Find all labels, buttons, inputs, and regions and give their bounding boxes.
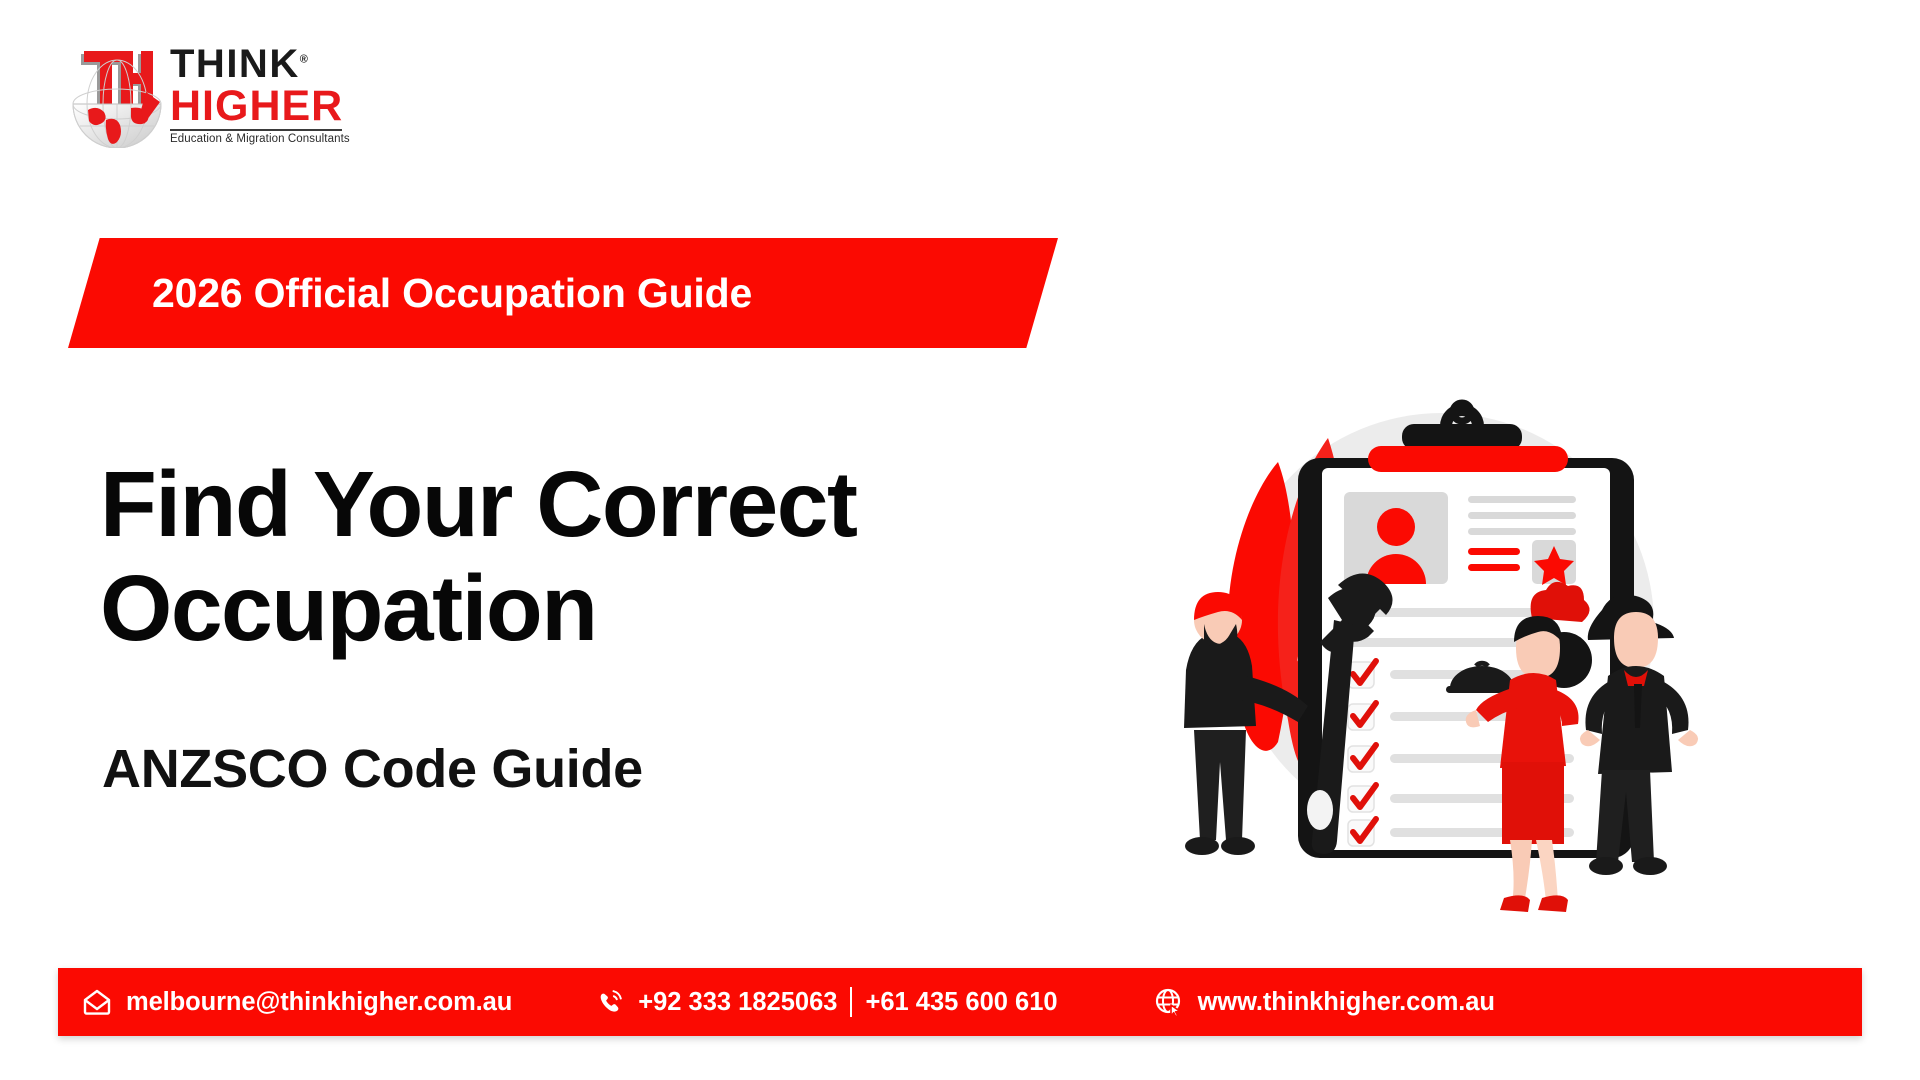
trademark-symbol: ® xyxy=(300,54,310,66)
brand-wordmark: THINK® HIGHER Education & Migration Cons… xyxy=(170,45,350,144)
occupation-clipboard-illustration xyxy=(1150,370,1710,930)
banner-label: 2026 Official Occupation Guide xyxy=(152,270,752,317)
brand-logo[interactable]: THINK® HIGHER Education & Migration Cons… xyxy=(68,40,368,150)
footer-website-text: www.thinkhigher.com.au xyxy=(1198,988,1495,1017)
footer-phone-primary: +92 333 1825063 xyxy=(638,988,837,1017)
red-clip-bar xyxy=(1368,446,1568,472)
clipboard-clip xyxy=(1402,403,1522,450)
footer-phone[interactable]: +92 333 1825063 +61 435 600 610 xyxy=(596,987,1057,1017)
page-subtitle: ANZSCO Code Guide xyxy=(102,738,643,800)
resume-text-lines xyxy=(1468,496,1576,535)
brand-name-higher: HIGHER xyxy=(170,85,350,128)
contact-footer-bar: melbourne@thinkhigher.com.au +92 333 182… xyxy=(58,968,1862,1036)
brand-tagline: Education & Migration Consultants xyxy=(170,133,350,145)
headline-line-1: Find Your Correct xyxy=(100,452,856,556)
guide-year-banner: 2026 Official Occupation Guide xyxy=(68,238,1058,348)
resume-avatar xyxy=(1344,492,1448,584)
globe-th-monogram-icon xyxy=(68,42,166,148)
footer-phone-separator xyxy=(850,987,852,1017)
footer-email[interactable]: melbourne@thinkhigher.com.au xyxy=(82,988,512,1017)
globe-cursor-icon xyxy=(1154,987,1184,1017)
page-title: Find Your Correct Occupation xyxy=(100,452,980,660)
brand-divider xyxy=(170,129,342,131)
envelope-icon xyxy=(82,989,112,1015)
poster-canvas: THINK® HIGHER Education & Migration Cons… xyxy=(0,0,1920,1080)
brand-name-think: THINK® xyxy=(170,45,350,84)
star-rating-badge xyxy=(1532,540,1576,585)
footer-website[interactable]: www.thinkhigher.com.au xyxy=(1154,987,1495,1017)
footer-phone-numbers: +92 333 1825063 +61 435 600 610 xyxy=(638,987,1057,1017)
footer-phone-secondary: +61 435 600 610 xyxy=(865,988,1057,1017)
footer-email-text: melbourne@thinkhigher.com.au xyxy=(126,988,512,1017)
headline-line-2: Occupation xyxy=(100,556,597,660)
phone-ring-icon xyxy=(596,988,624,1016)
